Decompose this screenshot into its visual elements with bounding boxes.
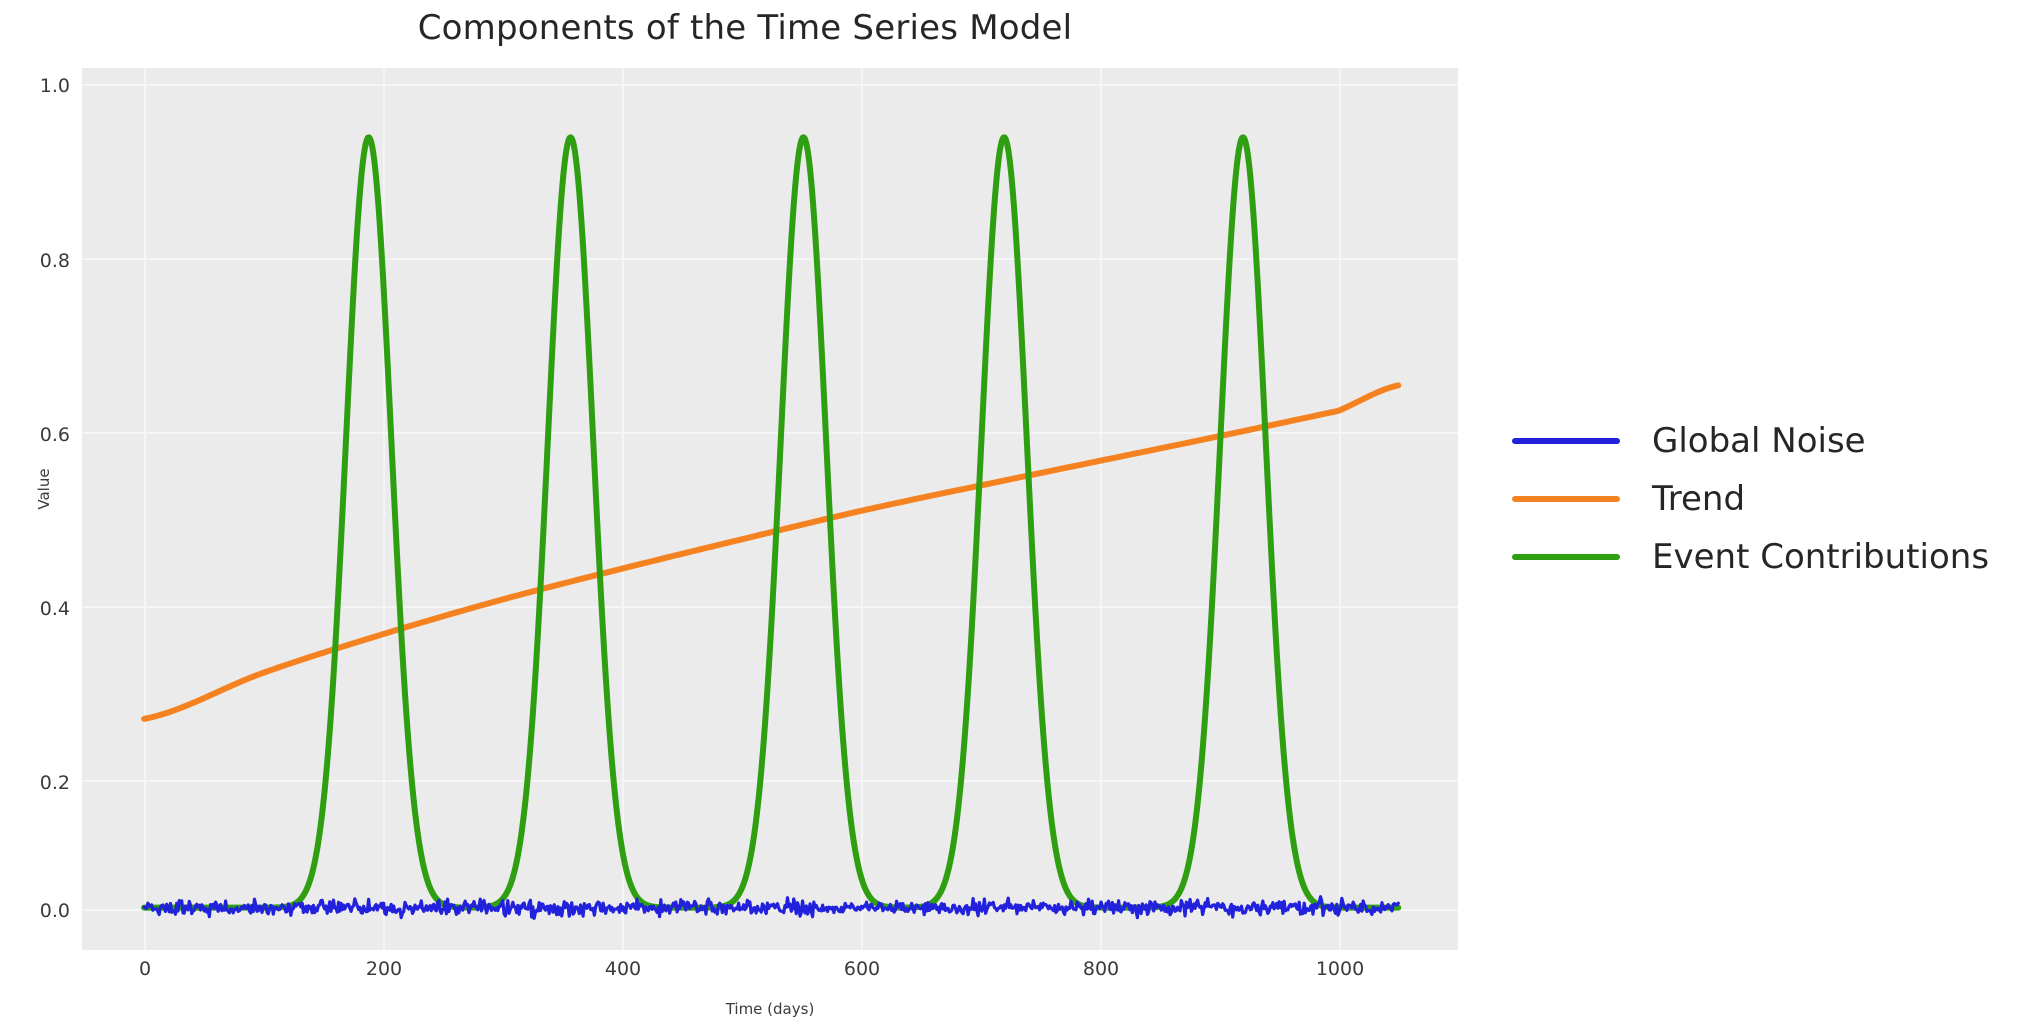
- y-tick-label: 0.4: [0, 598, 70, 620]
- y-tick-label: 0.8: [0, 250, 70, 272]
- x-tick-label: 0: [85, 958, 205, 980]
- legend-swatch-global-noise: [1512, 438, 1620, 444]
- legend-swatch-event-contributions: [1512, 554, 1620, 560]
- x-axis-label: Time (days): [82, 1000, 1458, 1018]
- series-line-global-noise: [144, 897, 1398, 919]
- y-tick-label: 1.0: [0, 75, 70, 97]
- legend-item[interactable]: Trend: [1512, 470, 2012, 528]
- x-tick-label: 600: [802, 958, 922, 980]
- y-tick-label: 0.2: [0, 772, 70, 794]
- y-tick-label: 0.0: [0, 900, 70, 922]
- x-tick-label: 800: [1041, 958, 1161, 980]
- chart-legend: Global Noise Trend Event Contributions: [1512, 412, 2012, 586]
- x-tick-label: 400: [563, 958, 683, 980]
- chart-title: Components of the Time Series Model: [0, 8, 1490, 48]
- x-tick-label: 1000: [1280, 958, 1400, 980]
- y-axis-label: Value: [35, 429, 53, 549]
- legend-swatch-trend: [1512, 496, 1620, 502]
- legend-label: Global Noise: [1652, 424, 1866, 458]
- legend-item[interactable]: Event Contributions: [1512, 528, 2012, 586]
- x-tick-label: 200: [324, 958, 444, 980]
- legend-label: Event Contributions: [1652, 540, 1989, 574]
- legend-item[interactable]: Global Noise: [1512, 412, 2012, 470]
- legend-label: Trend: [1652, 482, 1745, 516]
- plot-area: [82, 68, 1458, 950]
- chart-figure: Components of the Time Series Model 1.0 …: [0, 0, 2023, 1023]
- series-line-event-contributions: [144, 137, 1398, 907]
- series-canvas: [82, 68, 1458, 950]
